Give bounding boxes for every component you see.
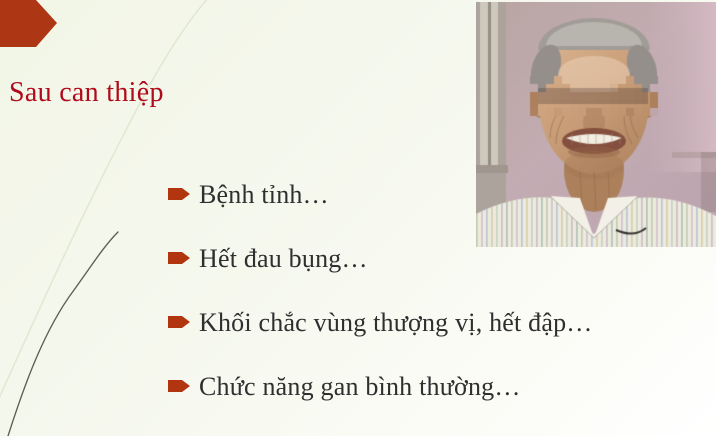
pennant-shape-icon xyxy=(0,0,57,47)
list-item: Bệnh tỉnh… xyxy=(168,176,716,214)
page-title: Sau can thiệp xyxy=(9,78,164,109)
bullet-text: Chức năng gan bình thường… xyxy=(199,368,521,406)
arrow-pennant-bullet-icon xyxy=(168,316,190,328)
bullet-list: Bệnh tỉnh… Hết đau bụng… Khối chắc vùng … xyxy=(168,176,716,406)
bullet-text: Hết đau bụng… xyxy=(199,240,368,278)
bullet-text: Khối chắc vùng thượng vị, hết đập… xyxy=(199,304,593,342)
list-item: Hết đau bụng… xyxy=(168,240,716,278)
slide-canvas: Sau can thiệp Bệnh tỉnh… Hết đau bụng… K… xyxy=(0,0,716,436)
arrow-pennant-bullet-icon xyxy=(168,380,190,392)
list-item: Khối chắc vùng thượng vị, hết đập… xyxy=(168,304,716,342)
arrow-pennant-bullet-icon xyxy=(168,252,190,264)
arrow-pennant-bullet-icon xyxy=(168,188,190,200)
bullet-text: Bệnh tỉnh… xyxy=(199,176,329,214)
list-item: Chức năng gan bình thường… xyxy=(168,368,716,406)
